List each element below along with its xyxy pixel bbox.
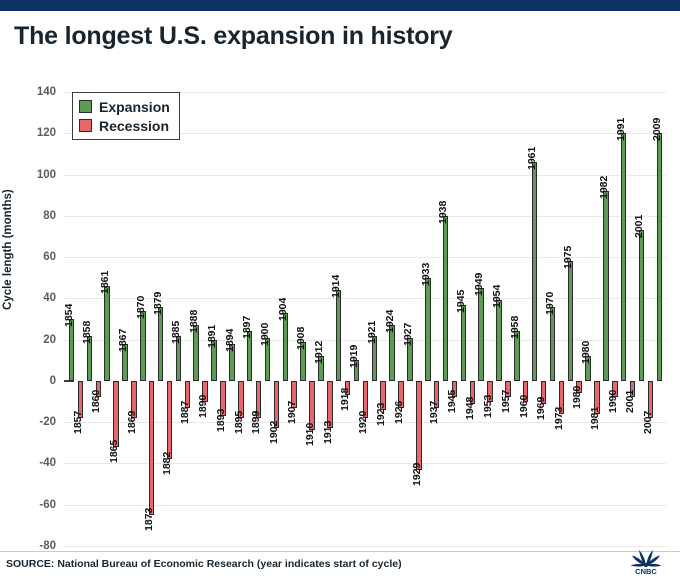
- y-axis-tick-label: 0: [16, 375, 56, 387]
- legend-label-recession: Recession: [99, 118, 169, 134]
- bar-value-label: 1982: [598, 176, 610, 199]
- bar-recession: [113, 381, 119, 447]
- bar-value-label: 1860: [90, 390, 102, 413]
- bar-recession: [416, 381, 422, 470]
- bar-value-label: 1954: [491, 285, 503, 308]
- bar-value-label: 1945: [446, 390, 458, 413]
- bar-expansion: [496, 300, 502, 380]
- bar-value-label: 1908: [295, 326, 307, 349]
- legend-item-recession: Recession: [79, 116, 170, 135]
- bar-value-label: 1919: [348, 345, 360, 368]
- bar-value-label: 1858: [81, 320, 93, 343]
- grid-line: [64, 175, 666, 176]
- svg-text:CNBC: CNBC: [635, 567, 657, 576]
- y-axis-tick-label: 140: [16, 86, 56, 98]
- y-axis-tick-label: 40: [16, 292, 56, 304]
- bar-value-label: 1900: [259, 322, 271, 345]
- bar-value-label: 1861: [99, 271, 111, 294]
- bar-value-label: 1973: [553, 407, 565, 430]
- bar-value-label: 1887: [179, 400, 191, 423]
- y-axis-tick-label: 60: [16, 251, 56, 263]
- bar-expansion: [550, 307, 556, 381]
- bar-value-label: 1961: [526, 147, 538, 170]
- bar-value-label: 1902: [268, 421, 280, 444]
- bar-value-label: 2001: [633, 215, 645, 238]
- y-axis-tick-label: 100: [16, 169, 56, 181]
- bar-value-label: 1897: [241, 316, 253, 339]
- bar-value-label: 1854: [63, 304, 75, 327]
- bar-value-label: 1891: [206, 324, 218, 347]
- bar-value-label: 1913: [322, 421, 334, 444]
- bar-expansion: [603, 191, 609, 381]
- chart-plot-area: Cycle length (months) 140120100806040200…: [0, 78, 680, 548]
- bar-value-label: 1975: [562, 246, 574, 269]
- bar-value-label: 1869: [126, 411, 138, 434]
- bar-value-label: 1923: [375, 402, 387, 425]
- source-note: SOURCE: National Bureau of Economic Rese…: [6, 558, 402, 570]
- cnbc-logo: CNBC: [620, 548, 672, 576]
- bar-value-label: 1873: [143, 508, 155, 531]
- bar-value-label: 1953: [482, 394, 494, 417]
- chart-legend: Expansion Recession: [72, 92, 180, 140]
- bar-value-label: 1937: [428, 400, 440, 423]
- grid-line: [64, 340, 666, 341]
- y-axis-tick-label: 20: [16, 334, 56, 346]
- bar-expansion: [443, 216, 449, 381]
- bar-value-label: 1904: [277, 297, 289, 320]
- bar-value-label: 1958: [509, 316, 521, 339]
- bar-recession: [149, 381, 155, 515]
- brand-accent-bar: [0, 0, 680, 11]
- bar-expansion: [158, 307, 164, 381]
- bar-value-label: 1981: [589, 407, 601, 430]
- bar-value-label: 1870: [135, 295, 147, 318]
- bar-value-label: 1948: [464, 396, 476, 419]
- bar-value-label: 1969: [535, 396, 547, 419]
- grid-line: [64, 257, 666, 258]
- bar-expansion: [532, 162, 538, 381]
- bar-expansion: [140, 311, 146, 381]
- bar-value-label: 1885: [170, 320, 182, 343]
- bar-value-label: 1865: [108, 440, 120, 463]
- y-axis-tick-label: 80: [16, 210, 56, 222]
- y-axis-tick-label: -60: [16, 499, 56, 511]
- bar-value-label: 1945: [455, 289, 467, 312]
- bar-recession: [167, 381, 173, 459]
- bar-value-label: 1927: [402, 322, 414, 345]
- y-axis-label: Cycle length (months): [2, 189, 14, 310]
- y-axis-tick-label: 120: [16, 127, 56, 139]
- bar-value-label: 2007: [642, 411, 654, 434]
- bar-value-label: 1882: [161, 452, 173, 475]
- bar-value-label: 1924: [384, 310, 396, 333]
- bar-value-label: 1899: [250, 411, 262, 434]
- legend-item-expansion: Expansion: [79, 97, 170, 116]
- bar-expansion: [461, 305, 467, 381]
- bar-value-label: 2009: [651, 118, 663, 141]
- bar-value-label: 1914: [330, 275, 342, 298]
- legend-swatch-recession: [79, 119, 92, 132]
- bar-value-label: 1918: [339, 388, 351, 411]
- bar-value-label: 1990: [607, 390, 619, 413]
- bar-value-label: 1929: [411, 462, 423, 485]
- bar-expansion: [193, 325, 199, 381]
- bar-expansion: [568, 261, 574, 381]
- footer-divider: [0, 551, 680, 552]
- bar-value-label: 2001: [624, 390, 636, 413]
- bar-value-label: 1938: [437, 200, 449, 223]
- bar-value-label: 1910: [304, 423, 316, 446]
- bar-value-label: 1991: [615, 118, 627, 141]
- bar-value-label: 1857: [72, 411, 84, 434]
- bar-value-label: 1893: [215, 409, 227, 432]
- grid-line: [64, 546, 666, 547]
- bar-value-label: 1912: [313, 341, 325, 364]
- bar-value-label: 1894: [224, 328, 236, 351]
- bar-expansion: [657, 133, 663, 381]
- bar-value-label: 1888: [188, 310, 200, 333]
- y-axis-tick-label: -40: [16, 457, 56, 469]
- chart-axes: 140120100806040200-20-40-60-801854185718…: [64, 92, 666, 546]
- bar-value-label: 1957: [500, 390, 512, 413]
- bar-expansion: [639, 230, 645, 381]
- bar-value-label: 1895: [233, 411, 245, 434]
- bar-value-label: 1920: [357, 411, 369, 434]
- y-axis-tick-label: -20: [16, 416, 56, 428]
- chart-page: The longest U.S. expansion in history Cy…: [0, 0, 680, 579]
- bar-expansion: [621, 133, 627, 381]
- bar-expansion: [104, 286, 110, 381]
- grid-line: [64, 216, 666, 217]
- bar-value-label: 1960: [518, 394, 530, 417]
- legend-swatch-expansion: [79, 100, 92, 113]
- bar-value-label: 1949: [473, 273, 485, 296]
- bar-value-label: 1879: [152, 291, 164, 314]
- bar-expansion: [69, 319, 75, 381]
- bar-value-label: 1926: [393, 400, 405, 423]
- bar-expansion: [389, 325, 395, 381]
- legend-label-expansion: Expansion: [99, 99, 170, 115]
- bar-value-label: 1890: [197, 394, 209, 417]
- bar-expansion: [425, 278, 431, 381]
- bar-value-label: 1867: [117, 328, 129, 351]
- page-title: The longest U.S. expansion in history: [14, 22, 453, 51]
- bar-value-label: 1933: [420, 262, 432, 285]
- bar-value-label: 1907: [286, 400, 298, 423]
- bar-value-label: 1921: [366, 320, 378, 343]
- bar-value-label: 1980: [580, 341, 592, 364]
- bar-expansion: [478, 288, 484, 381]
- bar-expansion: [283, 313, 289, 381]
- bar-value-label: 1980: [571, 386, 583, 409]
- bar-value-label: 1970: [544, 291, 556, 314]
- bar-expansion: [336, 290, 342, 381]
